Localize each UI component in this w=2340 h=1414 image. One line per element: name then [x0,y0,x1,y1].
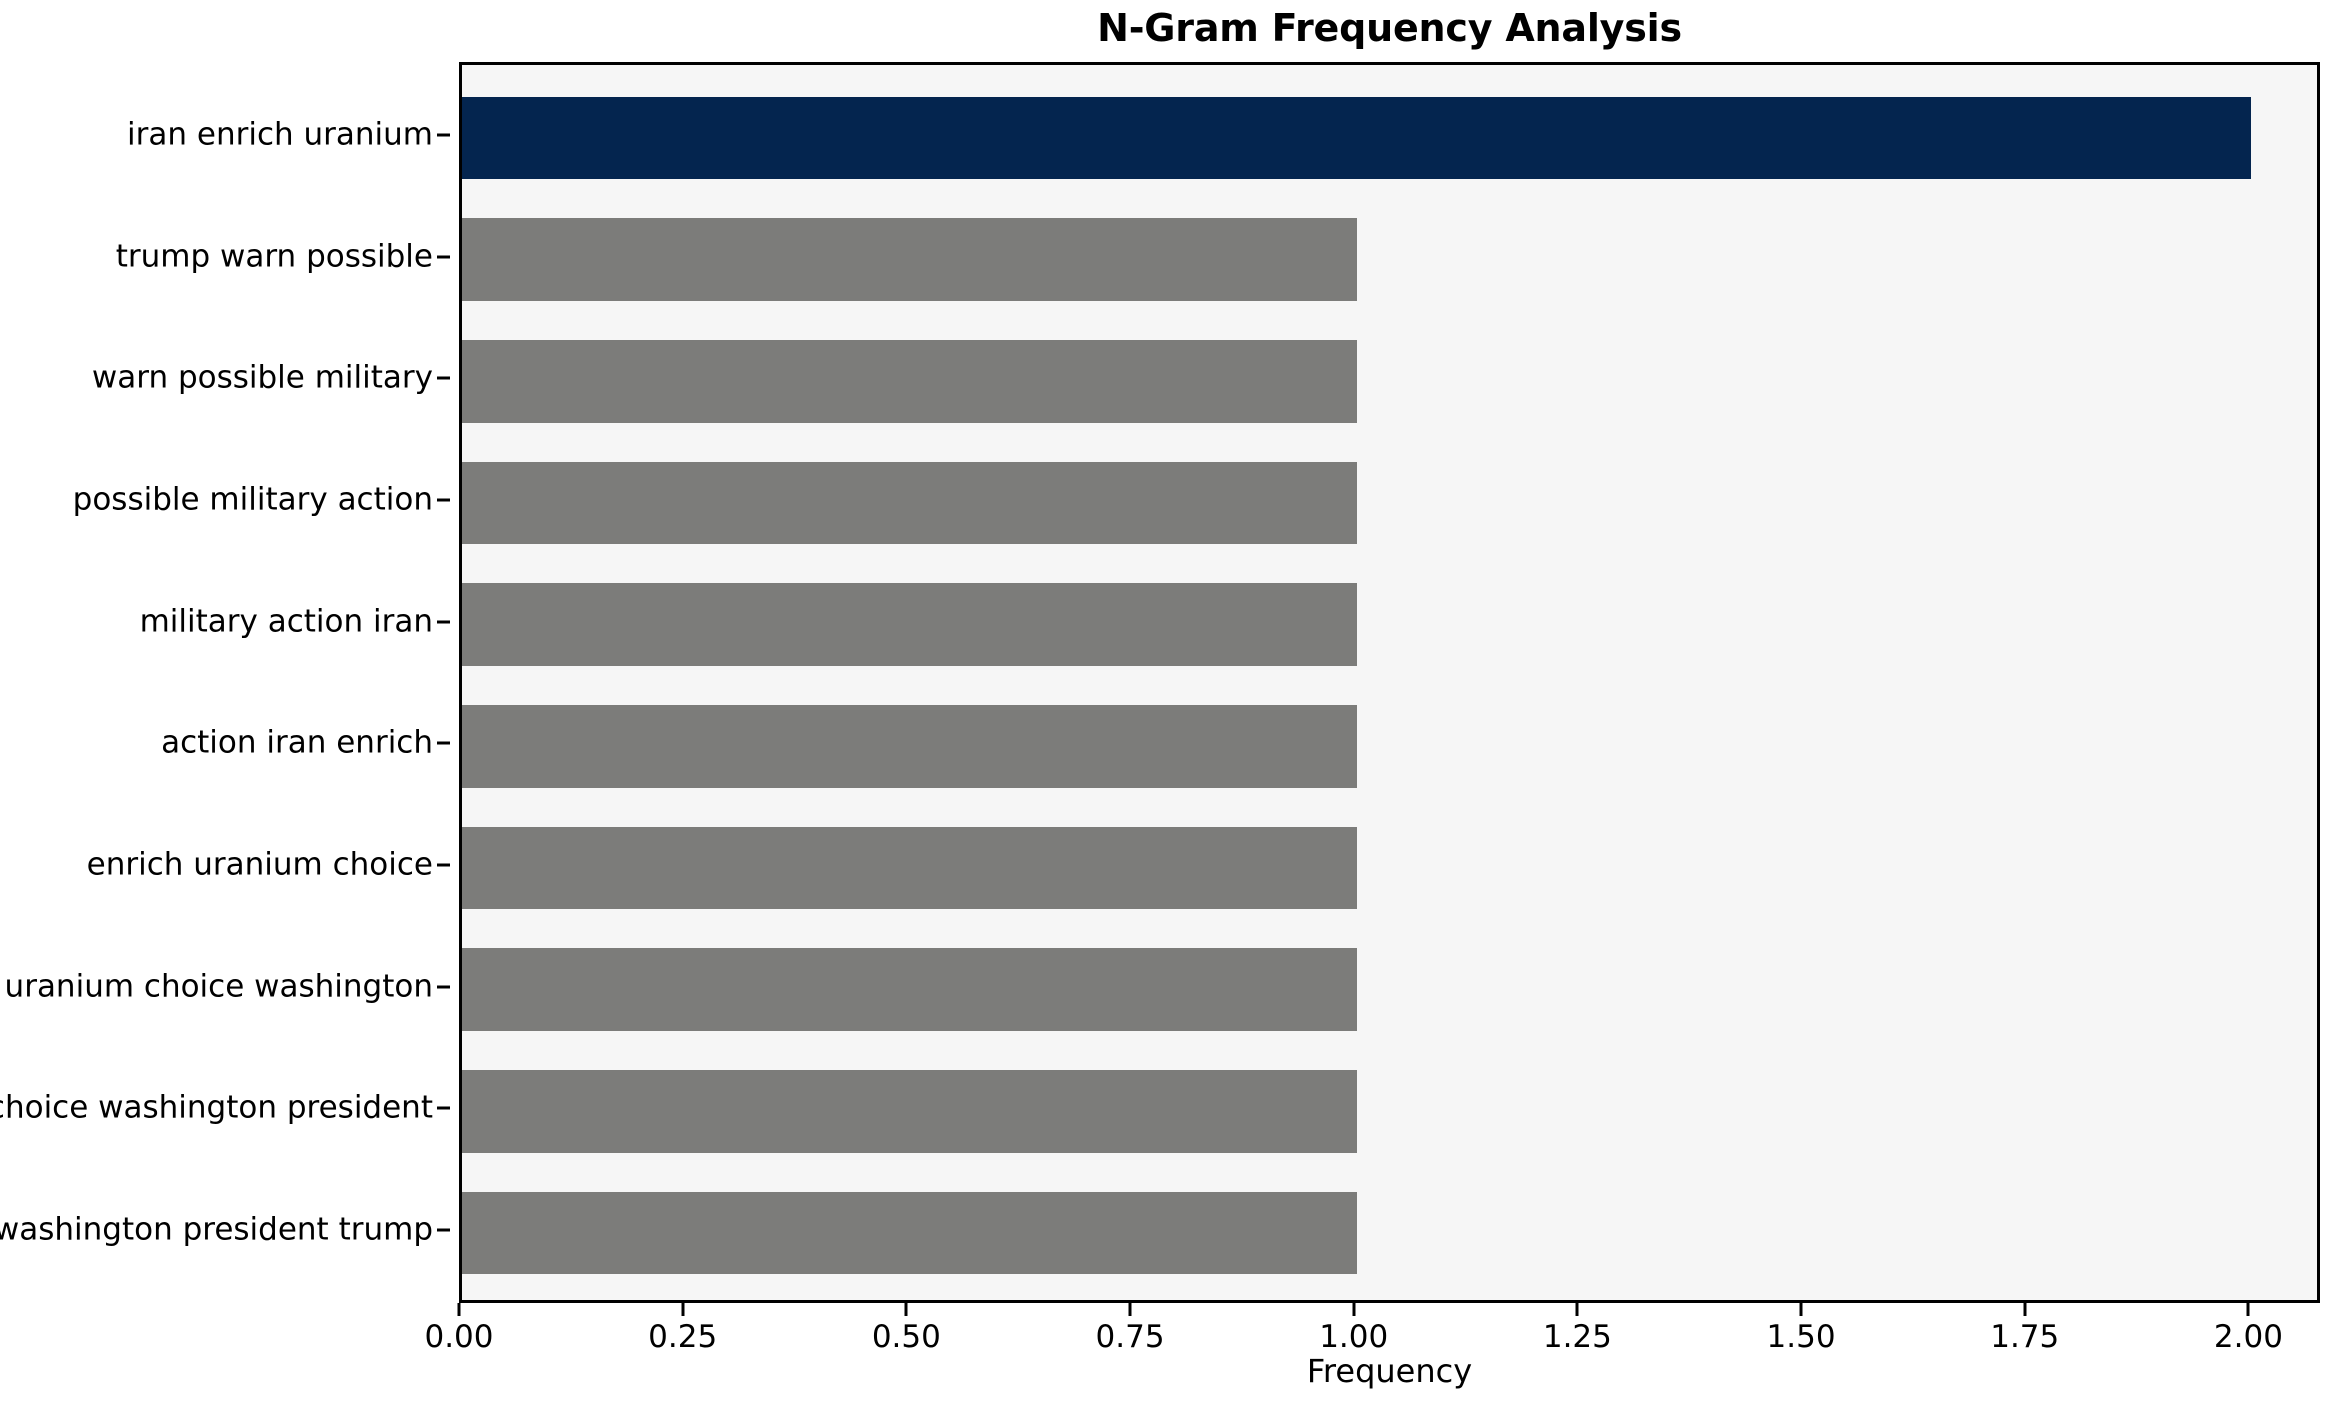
bars-layer [462,65,2317,1300]
y-tick-mark [437,499,450,502]
y-tick-mark [437,864,450,867]
bar [462,462,1357,545]
y-tick-label: trump warn possible [116,241,433,272]
x-tick-mark [1800,1303,1803,1316]
y-tick-label: possible military action [73,485,433,516]
plot-area [459,62,2320,1303]
y-tick-label: military action iran [140,606,433,637]
x-tick-mark [681,1303,684,1316]
x-tick-label: 1.75 [1990,1320,2059,1354]
x-tick-mark [2023,1303,2026,1316]
y-tick-mark [437,620,450,623]
y-tick-label: iran enrich uranium [127,120,433,151]
bar [462,340,1357,423]
bar [462,1192,1357,1275]
bar [462,97,2251,180]
x-axis-label: Frequency [459,1352,2320,1390]
y-axis-tick-labels: iran enrich uraniumtrump warn possiblewa… [0,62,459,1303]
x-tick-mark [905,1303,908,1316]
y-tick-mark [437,377,450,380]
x-tick-label: 0.50 [872,1320,941,1354]
x-tick-label: 0.00 [424,1320,493,1354]
x-tick-mark [458,1303,461,1316]
bar [462,583,1357,666]
y-tick-label: warn possible military [92,363,433,394]
bar [462,1070,1357,1153]
x-tick-mark [1352,1303,1355,1316]
y-tick-label: washington president trump [0,1215,433,1246]
chart-figure: N-Gram Frequency Analysis iran enrich ur… [0,0,2340,1414]
y-tick-mark [437,134,450,137]
x-tick-label: 2.00 [2214,1320,2283,1354]
chart-title: N-Gram Frequency Analysis [459,4,2320,52]
x-tick-label: 0.75 [1096,1320,1165,1354]
x-tick-label: 1.00 [1319,1320,1388,1354]
x-tick-mark [2247,1303,2250,1316]
y-tick-label: choice washington president [0,1093,433,1124]
bar [462,705,1357,788]
x-tick-label: 1.25 [1543,1320,1612,1354]
y-tick-mark [437,985,450,988]
x-tick-mark [1129,1303,1132,1316]
y-tick-mark [437,742,450,745]
y-tick-mark [437,1229,450,1232]
x-tick-label: 1.50 [1767,1320,1836,1354]
y-tick-label: uranium choice washington [5,971,433,1002]
y-tick-mark [437,255,450,258]
bar [462,948,1357,1031]
y-tick-label: action iran enrich [161,728,433,759]
y-tick-label: enrich uranium choice [87,850,433,881]
y-tick-mark [437,1107,450,1110]
bar [462,827,1357,910]
bar [462,218,1357,301]
x-tick-label: 0.25 [648,1320,717,1354]
x-tick-mark [1576,1303,1579,1316]
